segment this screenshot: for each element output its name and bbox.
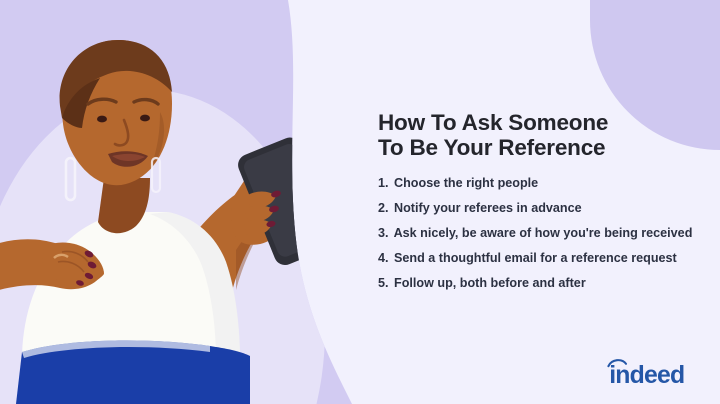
steps-list: 1. Choose the right people 2. Notify you… — [378, 176, 708, 290]
list-item-label: Notify your referees in advance — [394, 201, 582, 215]
list-item-number: 4. — [378, 251, 389, 265]
list-item-label: Choose the right people — [394, 176, 538, 190]
list-item: 1. Choose the right people — [378, 176, 708, 190]
list-item: 2. Notify your referees in advance — [378, 201, 708, 215]
page-title-line-2: To Be Your Reference — [378, 135, 605, 160]
page-title-line-1: How To Ask Someone — [378, 110, 608, 135]
list-item: 5. Follow up, both before and after — [378, 276, 708, 290]
list-item-number: 2. — [378, 201, 389, 215]
text-column: How To Ask Someone To Be Your Reference … — [378, 110, 708, 301]
list-item: 3. Ask nicely, be aware of how you're be… — [378, 226, 708, 240]
page-title: How To Ask Someone To Be Your Reference — [378, 110, 708, 160]
eye-right — [140, 115, 150, 122]
list-item-number: 5. — [378, 276, 389, 290]
list-item: 4. Send a thoughtful email for a referen… — [378, 251, 708, 265]
slide-canvas: How To Ask Someone To Be Your Reference … — [0, 0, 720, 404]
logo-wordmark: indeed — [609, 362, 684, 388]
eye-left — [97, 116, 107, 123]
list-item-number: 1. — [378, 176, 389, 190]
list-item-label: Send a thoughtful email for a reference … — [394, 251, 677, 265]
list-item-number: 3. — [378, 226, 389, 240]
indeed-logo: indeed — [606, 354, 702, 388]
illustration-woman-with-phone — [0, 0, 380, 404]
list-item-label: Ask nicely, be aware of how you're being… — [394, 226, 693, 240]
list-item-label: Follow up, both before and after — [394, 276, 586, 290]
